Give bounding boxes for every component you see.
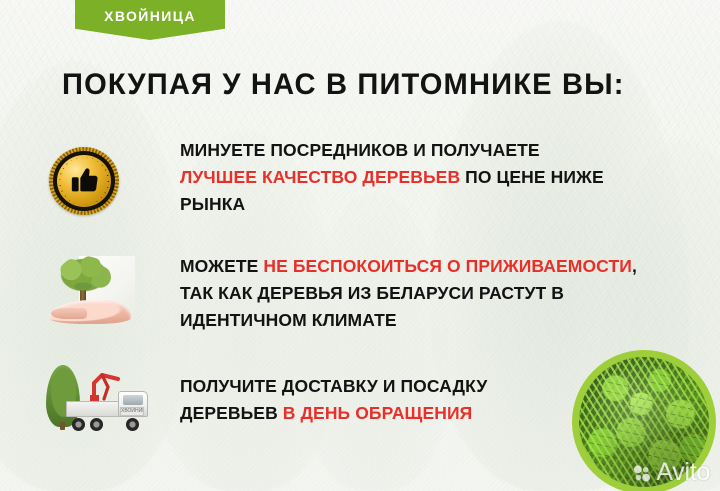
thuja-photo-circle bbox=[572, 350, 716, 491]
brand-badge-label: ХВОЙНИЦА bbox=[104, 9, 196, 23]
benefit-line: ДЕРЕВЬЕВ В ДЕНЬ ОБРАЩЕНИЯ bbox=[180, 400, 600, 427]
benefit-line: МОЖЕТЕ НЕ БЕСПОКОИТЬСЯ О ПРИЖИВАЕМОСТИ, bbox=[180, 253, 680, 280]
benefit-text-3: ПОЛУЧИТЕ ДОСТАВКУ И ПОСАДКУ ДЕРЕВЬЕВ В Д… bbox=[180, 373, 600, 427]
benefit-line: ИДЕНТИЧНОМ КЛИМАТЕ bbox=[180, 307, 680, 334]
benefit-line: ПОЛУЧИТЕ ДОСТАВКУ И ПОСАДКУ bbox=[180, 373, 600, 400]
truck-plate: ХВОЙНИЦА bbox=[120, 407, 144, 416]
benefit-text-2: МОЖЕТЕ НЕ БЕСПОКОИТЬСЯ О ПРИЖИВАЕМОСТИ, … bbox=[180, 253, 680, 334]
thumbs-up-glyph bbox=[68, 164, 102, 198]
promo-banner: ХВОЙНИЦА ПОКУПАЯ У НАС В ПИТОМНИКЕ ВЫ: М… bbox=[0, 0, 720, 491]
gold-medal-thumbs-up-icon bbox=[48, 146, 124, 218]
benefit-line: МИНУЕТЕ ПОСРЕДНИКОВ И ПОЛУЧАЕТЕ bbox=[180, 137, 670, 164]
hand-holding-tree-icon bbox=[47, 252, 137, 326]
crane-truck-with-tree-icon: ХВОЙНИЦА bbox=[44, 363, 156, 433]
benefit-line: ЛУЧШЕЕ КАЧЕСТВО ДЕРЕВЬЕВ ПО ЦЕНЕ НИЖЕ bbox=[180, 164, 670, 191]
benefit-line: РЫНКА bbox=[180, 191, 670, 218]
benefit-line: ТАК КАК ДЕРЕВЬЯ ИЗ БЕЛАРУСИ РАСТУТ В bbox=[180, 280, 680, 307]
benefit-text-1: МИНУЕТЕ ПОСРЕДНИКОВ И ПОЛУЧАЕТЕ ЛУЧШЕЕ К… bbox=[180, 137, 670, 218]
page-title: ПОКУПАЯ У НАС В ПИТОМНИКЕ ВЫ: bbox=[62, 70, 625, 100]
